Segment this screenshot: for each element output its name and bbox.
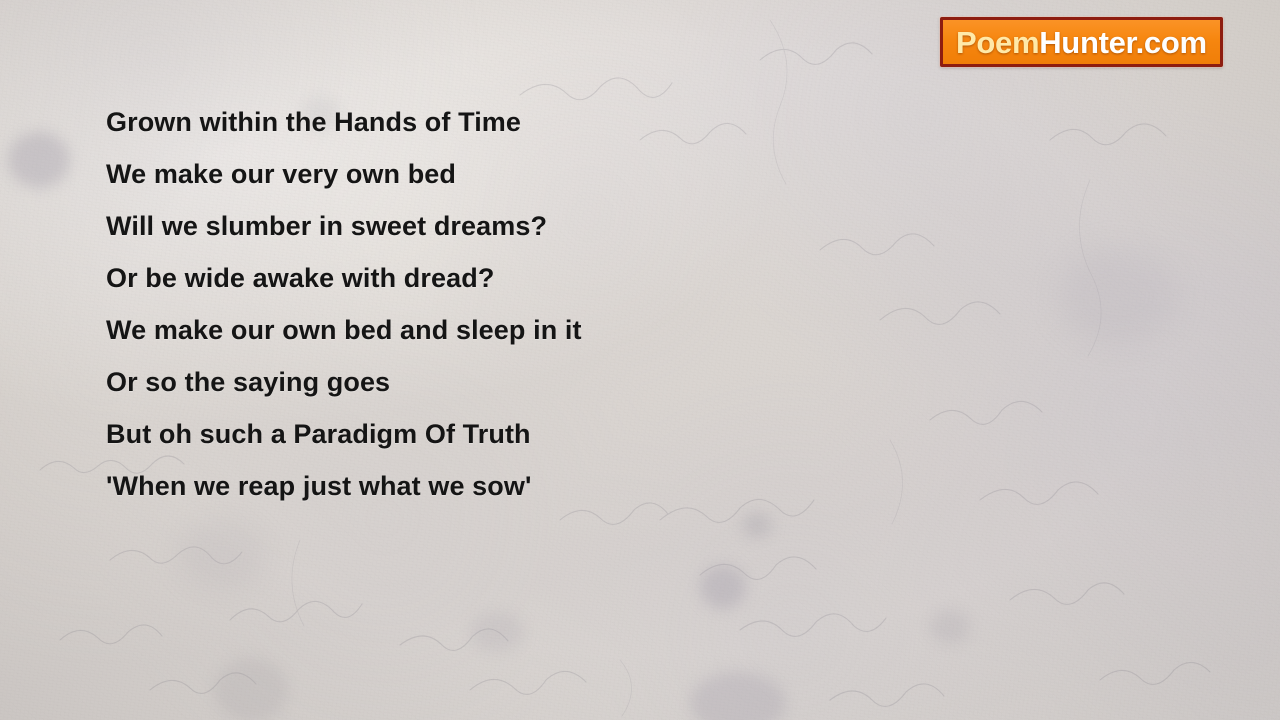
ink-blot-stain — [178, 520, 266, 590]
logo-word-com: .com — [1136, 25, 1207, 60]
poem-line: We make our own bed and sleep in it — [106, 304, 866, 356]
poem-line: Or be wide awake with dread? — [106, 252, 866, 304]
ink-blot-stain — [1058, 248, 1178, 344]
poem-line: We make our very own bed — [106, 148, 866, 200]
poem-line: Will we slumber in sweet dreams? — [106, 200, 866, 252]
poem-line: But oh such a Paradigm Of Truth — [106, 408, 866, 460]
logo-word-poem: Poem — [956, 25, 1039, 60]
poem-line: Grown within the Hands of Time — [106, 96, 866, 148]
ink-blot-stain — [742, 512, 772, 538]
poem-line: Or so the saying goes — [106, 356, 866, 408]
poem-slide: PoemHunter.com Grown within the Hands of… — [0, 0, 1280, 720]
ink-blot-stain — [470, 612, 524, 652]
ink-blot-stain — [8, 132, 70, 188]
ink-blot-stain — [214, 658, 288, 720]
logo-word-hunter: Hunter — [1039, 25, 1135, 60]
ink-blot-stain — [930, 610, 970, 644]
poemhunter-logo-text: PoemHunter.com — [956, 27, 1207, 58]
poemhunter-logo[interactable]: PoemHunter.com — [940, 17, 1223, 67]
poem-line: 'When we reap just what we sow' — [106, 460, 866, 512]
poem-text-block: Grown within the Hands of Time We make o… — [106, 96, 866, 512]
ink-blot-stain — [700, 565, 746, 609]
